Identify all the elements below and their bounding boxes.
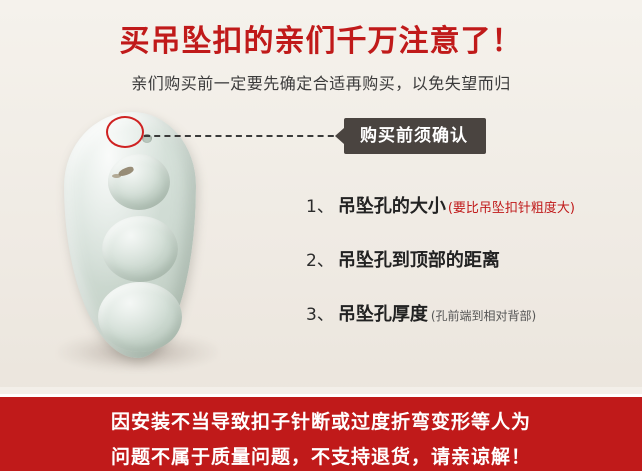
list-item: 1、吊坠孔的大小(要比吊坠扣针粗度大) (306, 192, 626, 218)
jade-pendant-icon (64, 112, 196, 358)
list-item: 3、吊坠孔厚度(孔前端到相对背部) (306, 300, 626, 326)
checklist: 1、吊坠孔的大小(要比吊坠扣针粗度大) 2、吊坠孔到顶部的距离 3、吊坠孔厚度(… (306, 192, 626, 354)
list-item-label: 吊坠孔的大小 (338, 196, 446, 217)
page-subtitle: 亲们购买前一定要先确定合适再购买，以免失望而归 (0, 70, 642, 94)
warning-banner: 因安装不当导致扣子针断或过度折弯变形等人为 问题不属于质量问题，不支持退货，请亲… (0, 394, 642, 471)
list-item-number: 3、 (306, 305, 334, 325)
list-item-number: 1、 (306, 197, 334, 217)
pendant-lobe-top (108, 154, 170, 210)
page-title: 买吊坠扣的亲们千万注意了！ (0, 16, 642, 60)
promo-page: 买吊坠扣的亲们千万注意了！ 亲们购买前一定要先确定合适再购买，以免失望而归 购买… (0, 0, 642, 471)
pointer-dashed-line (144, 135, 344, 137)
list-item-number: 2、 (306, 251, 334, 271)
list-item-label: 吊坠孔厚度 (338, 304, 428, 325)
red-circle-highlight-icon (106, 116, 144, 148)
pendant-lobe-bottom (98, 282, 182, 352)
list-item: 2、吊坠孔到顶部的距离 (306, 246, 626, 272)
list-item-note: (孔前端到相对背部) (431, 309, 536, 323)
warning-line-1: 因安装不当导致扣子针断或过度折弯变形等人为 (0, 407, 642, 434)
list-item-label: 吊坠孔到顶部的距离 (338, 250, 500, 271)
warning-line-2: 问题不属于质量问题，不支持退货，请亲谅解！ (0, 442, 642, 469)
jade-inclusion-mark-small (112, 174, 121, 178)
product-photo (40, 104, 250, 384)
list-item-note: (要比吊坠扣针粗度大) (448, 201, 575, 216)
pendant-lobe-middle (102, 216, 178, 282)
callout-tag: 购买前须确认 (344, 118, 486, 154)
